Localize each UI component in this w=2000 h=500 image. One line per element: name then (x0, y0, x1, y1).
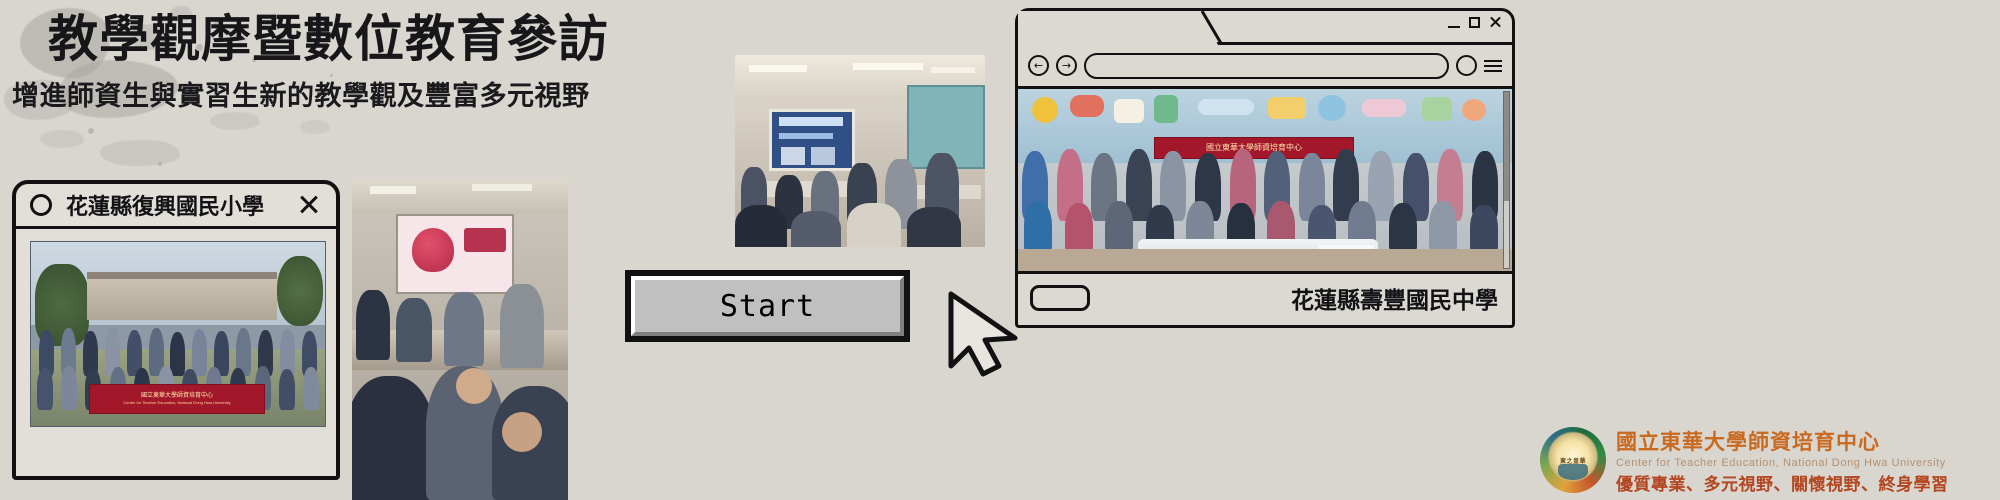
page-subtitle: 增進師資生與實習生新的教學觀及豐富多元視野 (12, 83, 590, 110)
start-button-frame: Start (625, 270, 910, 342)
scrollbar-thumb[interactable] (1504, 92, 1509, 201)
browser-tab[interactable] (1018, 11, 1218, 45)
window-elementary-school[interactable]: 花蓮縣復興國民小學 (12, 180, 340, 480)
tab-edge-shape (1201, 11, 1223, 45)
org-slogan: 優質專業、多元視野、關懷視野、終身學習 (1616, 470, 1949, 495)
window-browser-junior-high[interactable]: ← → 國立東華大學師資培育中心 (1015, 8, 1515, 328)
footer-text-block: 國立東華大學師資培育中心 Center for Teacher Educatio… (1616, 426, 1949, 495)
maximize-icon[interactable] (1469, 17, 1480, 28)
browser-tabstrip (1018, 11, 1512, 45)
org-name-en: Center for Teacher Education, National D… (1616, 457, 1949, 469)
minimize-icon[interactable] (1448, 17, 1460, 28)
footer-organization-logo: 東之皇華 國立東華大學師資培育中心 Center for Teacher Edu… (1540, 422, 1995, 498)
school-name-label: 花蓮縣壽豐國民中學 (1291, 281, 1498, 315)
url-input[interactable] (1084, 53, 1449, 79)
banner-line-1: 國立東華大學師資培育中心 (141, 393, 213, 401)
arrow-left-icon[interactable]: ← (1028, 55, 1049, 76)
vertical-scrollbar[interactable] (1503, 91, 1510, 269)
emblem-inscription: 東之皇華 (1540, 456, 1606, 465)
close-icon[interactable] (298, 193, 320, 215)
page-title: 教學觀摩暨數位教育參訪 (48, 14, 609, 64)
address-pill[interactable] (1030, 285, 1090, 311)
browser-navbar: ← → (1018, 45, 1512, 89)
photo-lecture-room (735, 55, 985, 247)
poster-canvas: 教學觀摩暨數位教育參訪 增進師資生與實習生新的教學觀及豐富多元視野 花蓮縣復興國… (0, 0, 2000, 500)
window-content: 國立東華大學師資培育中心 Center for Teacher Educatio… (16, 229, 336, 427)
photo-classroom-observation (352, 180, 568, 500)
banner-line-2: Center for Teacher Education, National D… (123, 400, 230, 405)
ndhu-emblem-icon: 東之皇華 (1540, 427, 1606, 493)
window-footer: 花蓮縣壽豐國民中學 (1018, 271, 1512, 321)
window-titlebar: 花蓮縣復興國民小學 (16, 184, 336, 226)
close-icon[interactable] (1489, 16, 1502, 29)
profile-icon[interactable] (1456, 55, 1477, 76)
start-button[interactable]: Start (631, 276, 904, 336)
group-photo-elementary: 國立東華大學師資培育中心 Center for Teacher Educatio… (30, 241, 326, 427)
browser-viewport: 國立東華大學師資培育中心 (1018, 89, 1512, 271)
circle-icon[interactable] (30, 194, 52, 216)
org-name-zh: 國立東華大學師資培育中心 (1616, 426, 1949, 456)
mouse-pointer-icon (945, 290, 1025, 378)
window-title: 花蓮縣復興國民小學 (66, 189, 264, 221)
hamburger-menu-icon[interactable] (1484, 60, 1502, 72)
window-controls (1448, 16, 1502, 29)
arrow-right-icon[interactable]: → (1056, 55, 1077, 76)
